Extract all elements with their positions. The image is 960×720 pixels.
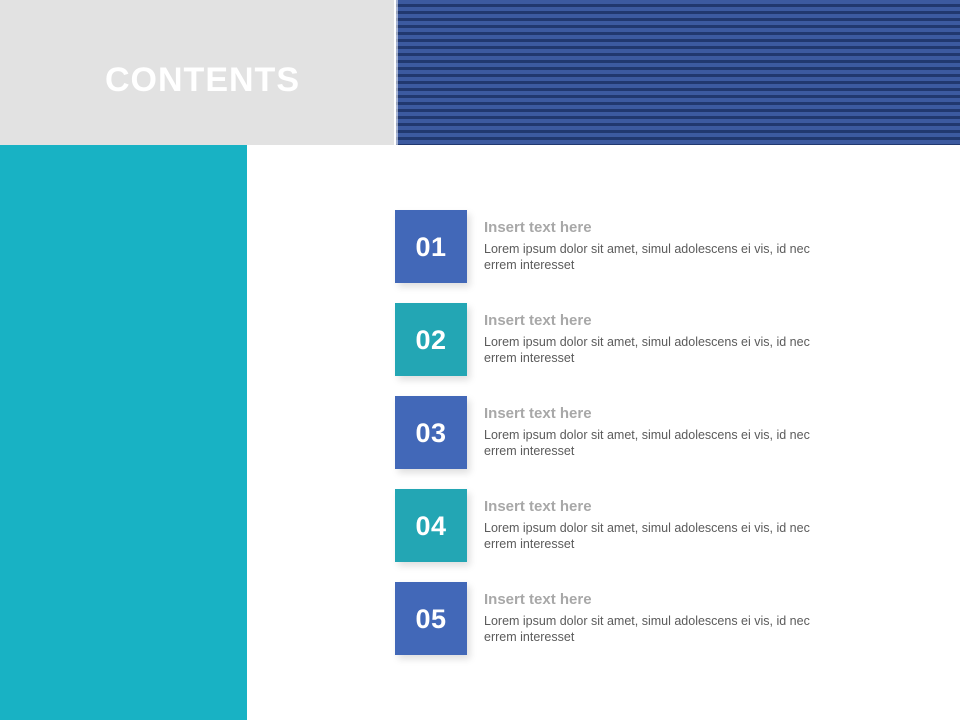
item-number-badge[interactable]: 05 [395,582,467,655]
header-background-panel: CONTENTS [0,0,394,145]
header-striped-band [396,0,960,145]
item-number-label: 03 [415,418,446,448]
item-heading: Insert text here [484,497,904,517]
item-text-block: Insert text hereLorem ipsum dolor sit am… [484,497,904,552]
item-body-text: Lorem ipsum dolor sit amet, simul adoles… [484,334,814,366]
item-heading: Insert text here [484,590,904,610]
list-item[interactable]: 03Insert text hereLorem ipsum dolor sit … [395,396,915,469]
list-item[interactable]: 02Insert text hereLorem ipsum dolor sit … [395,303,915,376]
item-heading: Insert text here [484,311,904,331]
item-body-text: Lorem ipsum dolor sit amet, simul adoles… [484,613,814,645]
item-heading: Insert text here [484,218,904,238]
item-body-text: Lorem ipsum dolor sit amet, simul adoles… [484,241,814,273]
item-body-text: Lorem ipsum dolor sit amet, simul adoles… [484,520,814,552]
item-heading: Insert text here [484,404,904,424]
item-number-badge[interactable]: 04 [395,489,467,562]
item-body-text: Lorem ipsum dolor sit amet, simul adoles… [484,427,814,459]
contents-list: 01Insert text hereLorem ipsum dolor sit … [395,210,915,675]
page-title: CONTENTS [105,60,300,100]
slide-canvas: CONTENTS 01Insert text hereLorem ipsum d… [0,0,960,720]
item-number-label: 01 [415,232,446,262]
item-number-label: 04 [415,511,446,541]
list-item[interactable]: 01Insert text hereLorem ipsum dolor sit … [395,210,915,283]
list-item[interactable]: 04Insert text hereLorem ipsum dolor sit … [395,489,915,562]
item-number-label: 05 [415,604,446,634]
item-number-label: 02 [415,325,446,355]
left-accent-panel [0,145,247,720]
item-number-badge[interactable]: 02 [395,303,467,376]
striped-band-edge [396,0,398,145]
item-text-block: Insert text hereLorem ipsum dolor sit am… [484,311,904,366]
item-text-block: Insert text hereLorem ipsum dolor sit am… [484,404,904,459]
item-number-badge[interactable]: 01 [395,210,467,283]
item-text-block: Insert text hereLorem ipsum dolor sit am… [484,590,904,645]
item-text-block: Insert text hereLorem ipsum dolor sit am… [484,218,904,273]
item-number-badge[interactable]: 03 [395,396,467,469]
list-item[interactable]: 05Insert text hereLorem ipsum dolor sit … [395,582,915,655]
